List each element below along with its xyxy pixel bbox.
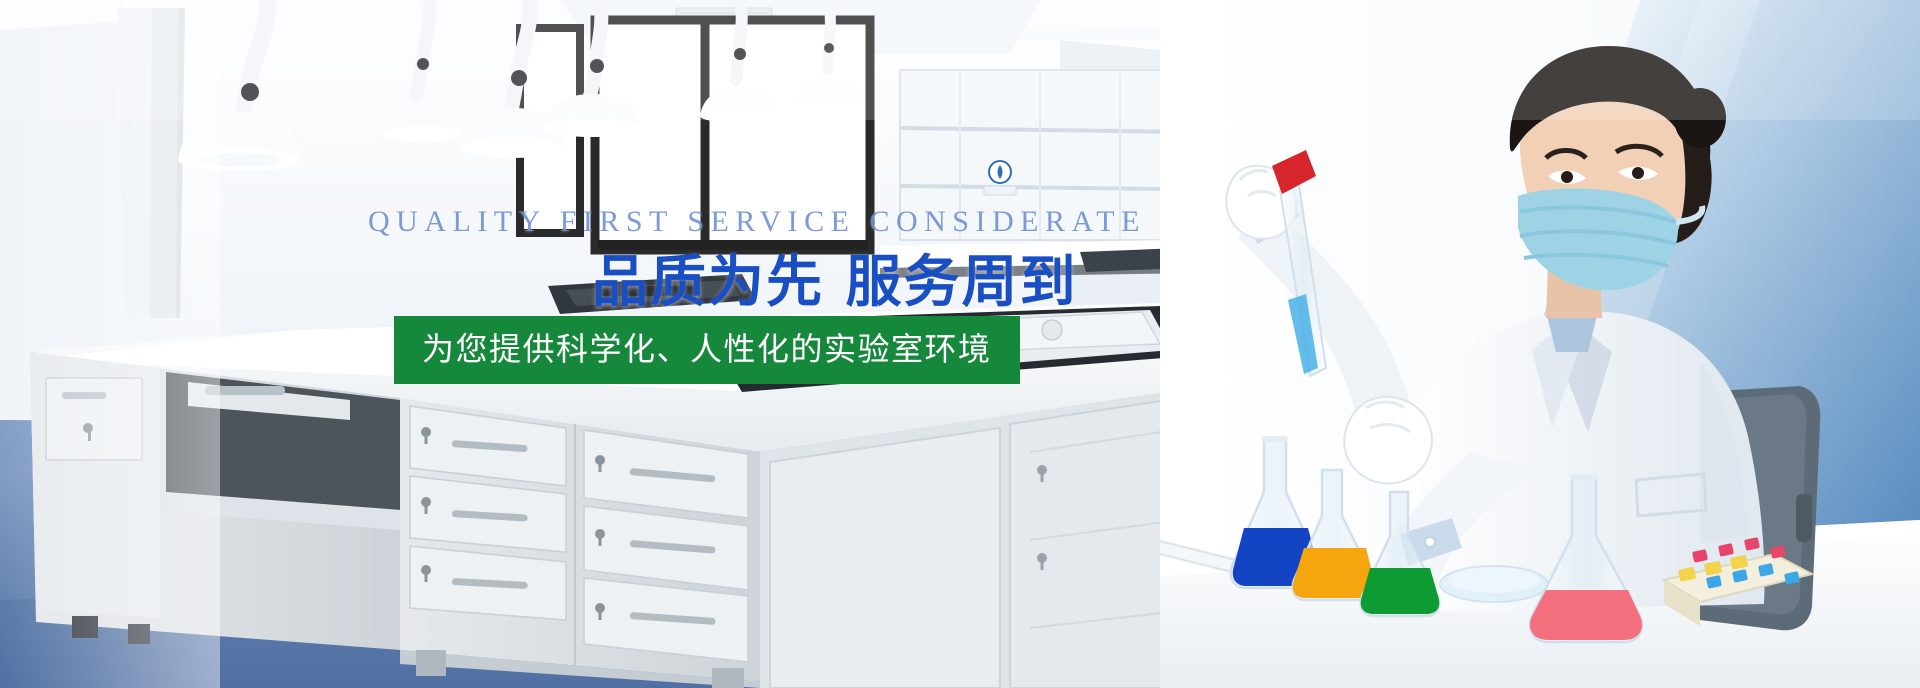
gloved-hand-lower: [1344, 397, 1432, 484]
petri-dish: [1440, 566, 1548, 602]
hero-banner: QUALITY FIRST SERVICE CONSIDERATE 品质为先 服…: [0, 0, 1920, 688]
banner-subtitle-text: 为您提供科学化、人性化的实验室环境: [422, 330, 992, 368]
banner-headline: 品质为先 服务周到: [592, 252, 1078, 314]
eye-left: [1561, 171, 1573, 183]
cuff-button-icon: [1425, 537, 1435, 547]
banner-eyebrow-text: QUALITY FIRST SERVICE CONSIDERATE: [368, 205, 1146, 239]
eye-right: [1632, 167, 1644, 179]
banner-subtitle-bar: 为您提供科学化、人性化的实验室环境: [394, 316, 1020, 384]
